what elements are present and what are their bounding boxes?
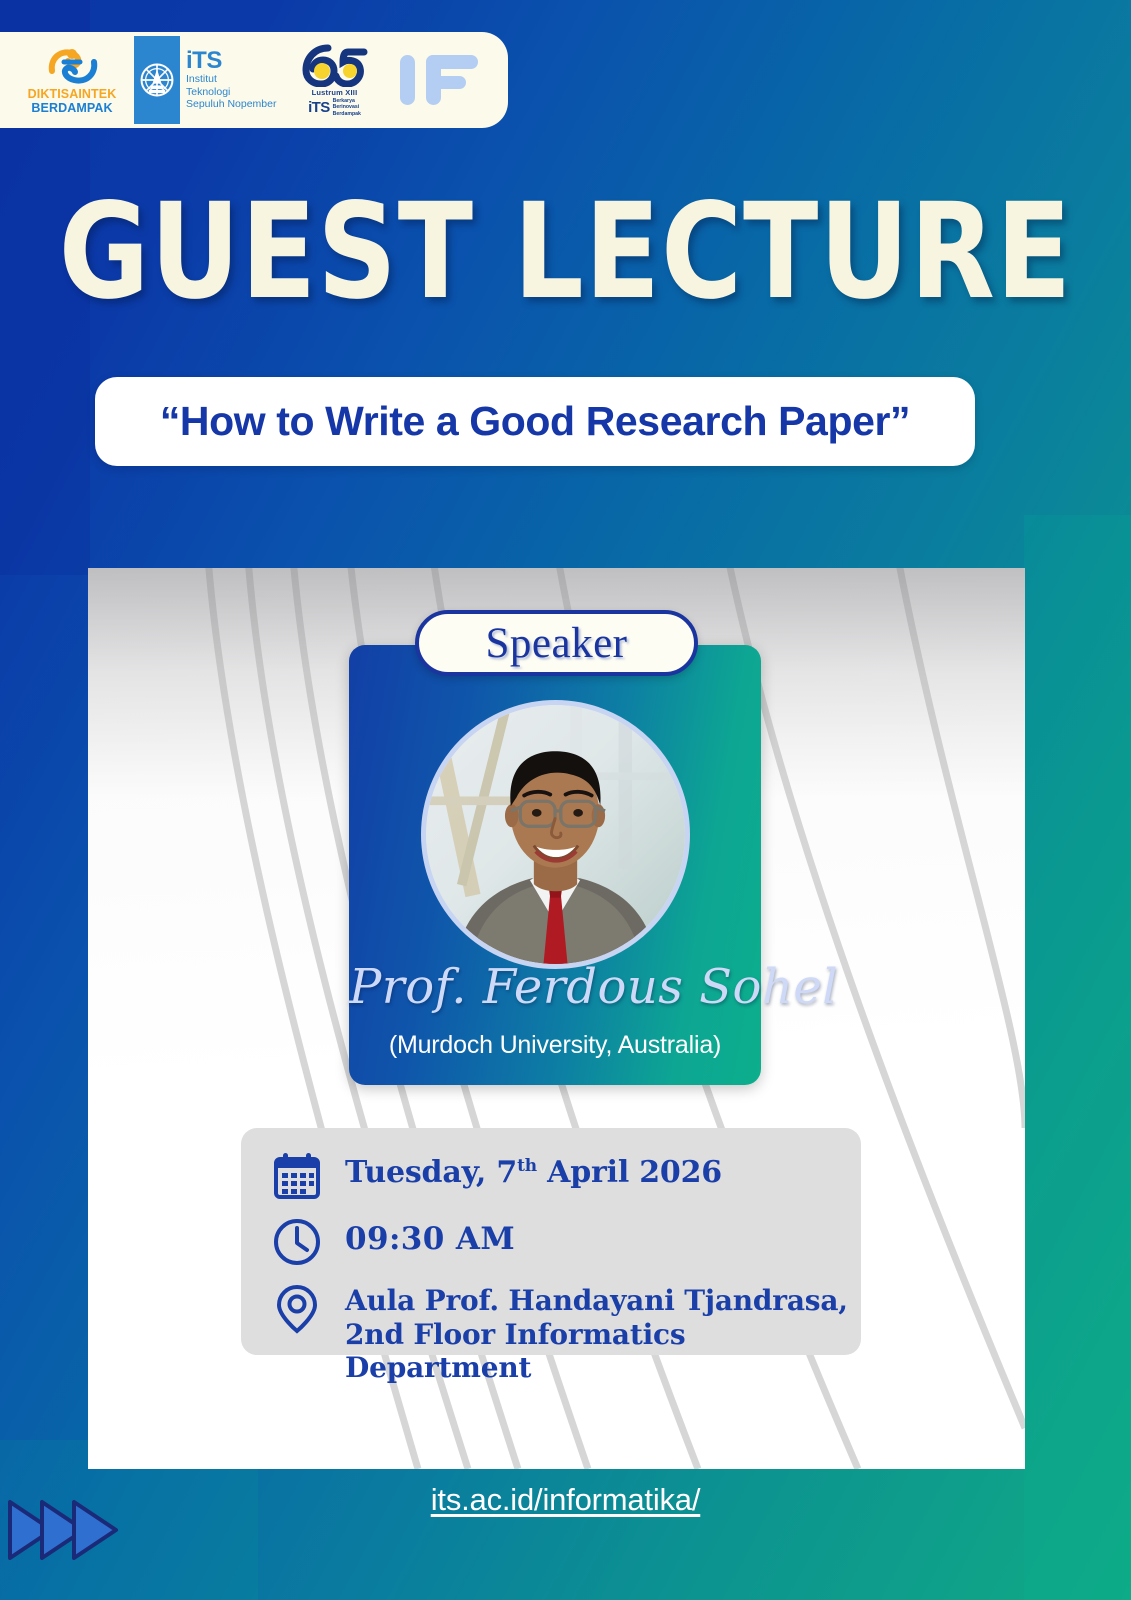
detail-row-location: Aula Prof. Handayani Tjandrasa, 2nd Floo… (271, 1282, 861, 1385)
speaker-badge-label: Speaker (486, 619, 628, 668)
lustrum-tagline-line2: Berinovasi (333, 104, 360, 110)
event-details-box: Tuesday, 7th April 2026 09:30 AM Aula Pr… (241, 1128, 861, 1355)
logo-its: iTS Institut Teknologi Sepuluh Nopember (134, 36, 276, 124)
page-title: GUEST LECTURE (40, 186, 1092, 318)
calendar-icon (271, 1150, 323, 1202)
speaker-avatar (421, 700, 690, 969)
lustrum-tagline: Berkarya Berinovasi Berdampak (333, 98, 361, 118)
clock-icon (271, 1216, 323, 1268)
logo-diktisaintek: DIKTISAINTEK BERDAMPAK (22, 45, 122, 116)
background-block-right (1024, 515, 1131, 1600)
diktisaintek-line1: DIKTISAINTEK (28, 88, 117, 101)
portrait-illustration (426, 705, 685, 964)
lustrum-its-block: iTS Berkarya Berinovasi Berdampak (308, 98, 361, 118)
its-sub-line2: Teknologi (186, 87, 276, 99)
detail-location-text: Aula Prof. Handayani Tjandrasa, 2nd Floo… (345, 1282, 861, 1385)
speaker-affiliation: (Murdoch University, Australia) (349, 1031, 761, 1060)
lustrum-its-name: iTS (308, 99, 330, 116)
detail-location-line1: Aula Prof. Handayani Tjandrasa, (345, 1284, 848, 1317)
poster-root: DIKTISAINTEK BERDAMPAK iTS (0, 0, 1131, 1600)
detail-time-text: 09:30 AM (345, 1216, 515, 1258)
its-shield-icon (134, 36, 180, 124)
detail-row-time: 09:30 AM (271, 1216, 861, 1268)
detail-date-sup: th (517, 1156, 537, 1176)
lustrum-tagline-line1: Berkarya (333, 98, 355, 104)
diktisaintek-figure-icon (44, 45, 100, 87)
logo-bar: DIKTISAINTEK BERDAMPAK iTS (0, 32, 508, 128)
decorative-arrows-icon (4, 1488, 144, 1568)
speaker-name: Prof. Ferdous Sohel (349, 963, 761, 1011)
detail-date-tail: April 2026 (537, 1155, 722, 1190)
detail-row-date: Tuesday, 7th April 2026 (271, 1150, 861, 1202)
footer-website-link[interactable]: its.ac.id/informatika/ (0, 1482, 1131, 1518)
diktisaintek-line2: BERDAMPAK (31, 101, 112, 115)
its-sub-line1: Institut (186, 74, 276, 86)
lustrum-65-icon (298, 43, 370, 87)
logo-informatika-if (396, 49, 492, 111)
lustrum-caption: Lustrum XIII (312, 88, 358, 97)
logo-lustrum-65: Lustrum XIII iTS Berkarya Berinovasi Ber… (288, 43, 380, 118)
its-name: iTS (186, 49, 276, 73)
location-pin-icon (271, 1282, 323, 1334)
detail-location-line2: 2nd Floor Informatics Department (345, 1318, 685, 1385)
its-sub-line3: Sepuluh Nopember (186, 99, 276, 111)
its-text-block: iTS Institut Teknologi Sepuluh Nopember (186, 49, 276, 111)
detail-date-main: Tuesday, 7 (345, 1155, 517, 1190)
detail-date-text: Tuesday, 7th April 2026 (345, 1150, 722, 1191)
subtitle-pill: “How to Write a Good Research Paper” (95, 377, 975, 466)
speaker-badge: Speaker (415, 610, 698, 676)
subtitle-text: “How to Write a Good Research Paper” (160, 398, 910, 445)
lustrum-tagline-line3: Berdampak (333, 111, 361, 117)
